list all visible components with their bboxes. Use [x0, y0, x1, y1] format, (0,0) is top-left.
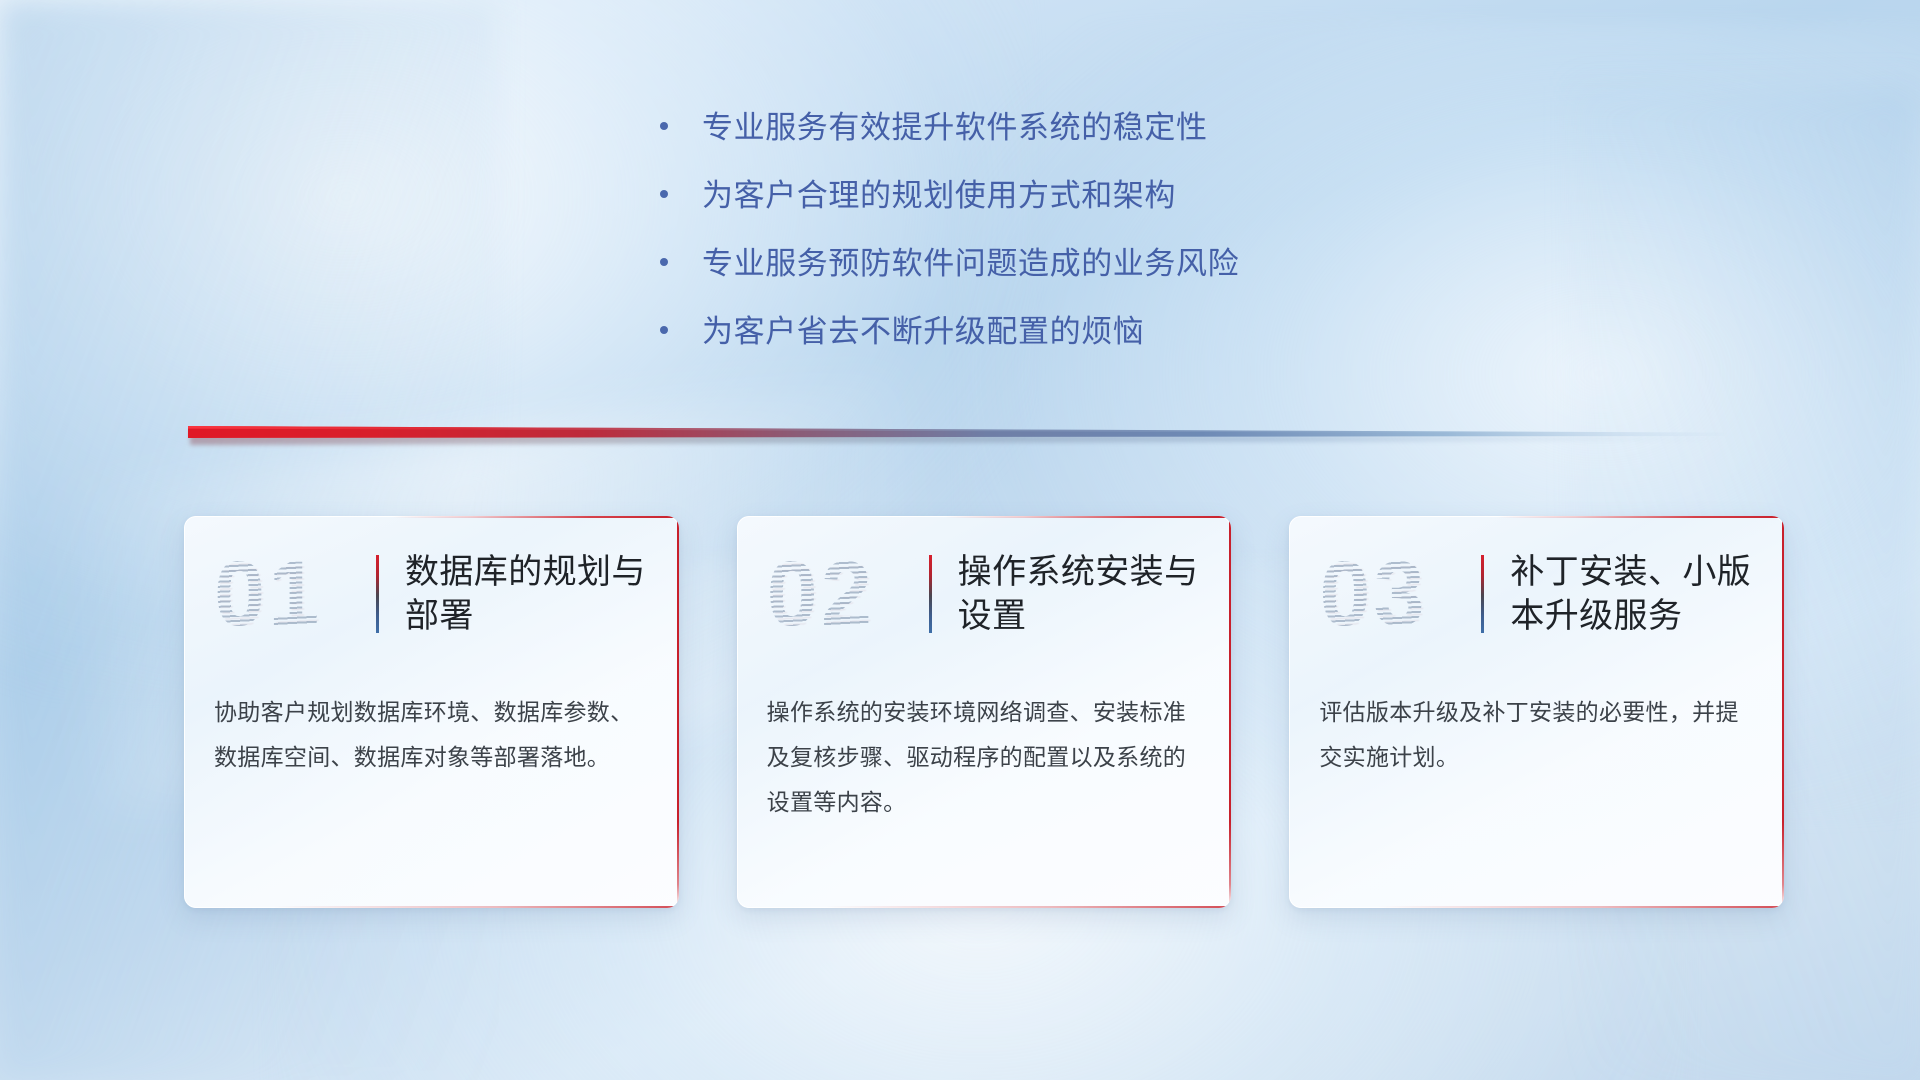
- card-vertical-rule: [1481, 555, 1484, 633]
- divider-wedge: [188, 424, 1724, 446]
- card-vertical-rule: [929, 555, 932, 633]
- card-header: 03 03 补丁安装、小版本升级服务: [1289, 516, 1784, 672]
- service-card[interactable]: 02 02 操作系统安装与设置 操作系统的安装环境网络调查、安装标准及复核步骤、…: [737, 516, 1232, 908]
- card-body-text: 协助客户规划数据库环境、数据库参数、数据库空间、数据库对象等部署落地。: [184, 672, 679, 780]
- service-cards: 01 01 数据库的规划与部署 协助客户规划数据库环境、数据库参数、数据库空间、…: [184, 516, 1784, 908]
- slide-root: 专业服务有效提升软件系统的稳定性 为客户合理的规划使用方式和架构 专业服务预防软…: [0, 0, 1920, 1080]
- card-number-badge: 01 01: [214, 546, 362, 642]
- bullet-text: 专业服务预防软件问题造成的业务风险: [702, 244, 1239, 283]
- card-title: 补丁安装、小版本升级服务: [1510, 550, 1762, 638]
- bullet-item: 为客户省去不断升级配置的烦恼: [660, 312, 1500, 351]
- card-number-text: 02: [767, 546, 915, 642]
- card-accent-bottom: [826, 906, 1232, 908]
- card-accent-bottom: [1378, 906, 1784, 908]
- card-body-text: 操作系统的安装环境网络调查、安装标准及复核步骤、驱动程序的配置以及系统的设置等内…: [737, 672, 1232, 825]
- card-header: 02 02 操作系统安装与设置: [737, 516, 1232, 672]
- benefits-bullet-list: 专业服务有效提升软件系统的稳定性 为客户合理的规划使用方式和架构 专业服务预防软…: [660, 108, 1500, 380]
- bullet-text: 专业服务有效提升软件系统的稳定性: [702, 108, 1208, 147]
- service-card[interactable]: 01 01 数据库的规划与部署 协助客户规划数据库环境、数据库参数、数据库空间、…: [184, 516, 679, 908]
- bullet-dot-icon: [660, 122, 668, 130]
- card-header: 01 01 数据库的规划与部署: [184, 516, 679, 672]
- section-divider: [188, 424, 1724, 446]
- bullet-text: 为客户合理的规划使用方式和架构: [702, 176, 1176, 215]
- card-title: 操作系统安装与设置: [958, 550, 1210, 638]
- bullet-dot-icon: [660, 326, 668, 334]
- bullet-item: 为客户合理的规划使用方式和架构: [660, 176, 1500, 215]
- card-number-badge: 02 02: [767, 546, 915, 642]
- card-vertical-rule: [376, 555, 379, 633]
- card-number-text: 03: [1319, 546, 1467, 642]
- card-number-badge: 03 03: [1319, 546, 1467, 642]
- bullet-item: 专业服务有效提升软件系统的稳定性: [660, 108, 1500, 147]
- bullet-dot-icon: [660, 258, 668, 266]
- bullet-text: 为客户省去不断升级配置的烦恼: [702, 312, 1144, 351]
- bullet-dot-icon: [660, 190, 668, 198]
- service-card[interactable]: 03 03 补丁安装、小版本升级服务 评估版本升级及补丁安装的必要性，并提交实施…: [1289, 516, 1784, 908]
- card-accent-bottom: [273, 906, 679, 908]
- bullet-item: 专业服务预防软件问题造成的业务风险: [660, 244, 1500, 283]
- card-body-text: 评估版本升级及补丁安装的必要性，并提交实施计划。: [1289, 672, 1784, 780]
- card-number-text: 01: [214, 546, 362, 642]
- card-title: 数据库的规划与部署: [405, 550, 657, 638]
